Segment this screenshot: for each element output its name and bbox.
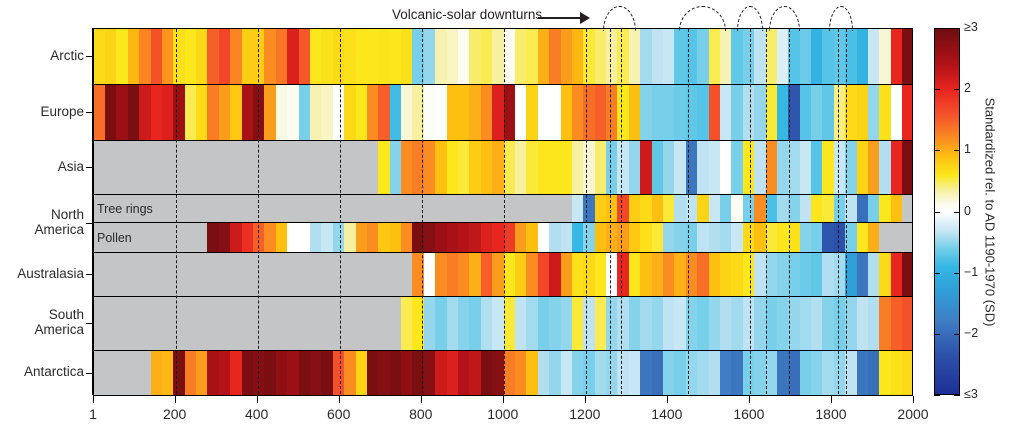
heatmap-cell <box>458 195 470 222</box>
heatmap-cell <box>902 29 912 84</box>
heatmap-cell <box>709 253 721 296</box>
row-label-europe: Europe <box>0 105 84 120</box>
heatmap-cell <box>549 85 561 140</box>
heatmap-cell <box>492 85 504 140</box>
heatmap-cell <box>412 223 424 252</box>
heatmap-cell <box>276 351 288 395</box>
y-axis-line <box>92 28 93 395</box>
heatmap-cell <box>902 351 912 395</box>
heatmap-cell <box>356 141 368 194</box>
heatmap-cell <box>811 29 823 84</box>
heatmap-cell <box>185 223 197 252</box>
heatmap-cell <box>378 351 390 395</box>
dashed-year-marker <box>766 29 767 394</box>
heatmap-cell <box>800 195 812 222</box>
volcanic-solar-downturns-label: Volcanic-solar downturns <box>392 7 542 22</box>
heatmap-cell <box>504 195 516 222</box>
heatmap-cell <box>549 141 561 194</box>
heatmap-cell <box>344 85 356 140</box>
colorbar-tick-mark <box>934 273 940 274</box>
heatmap-cell <box>185 141 197 194</box>
heatmap-cell <box>424 141 436 194</box>
heatmap-cell <box>572 351 584 395</box>
heatmap-cell <box>595 195 607 222</box>
heatmap-cell <box>492 297 504 350</box>
heatmap-cell <box>116 85 128 140</box>
heatmap-cell <box>606 351 618 395</box>
heatmap-cell <box>435 223 447 252</box>
heatmap-cell <box>526 253 538 296</box>
heatmap-cell <box>754 253 766 296</box>
heatmap-cell <box>834 141 846 194</box>
heatmap-cell <box>401 141 413 194</box>
heatmap-cell <box>595 85 607 140</box>
heatmap-cell <box>777 253 789 296</box>
heatmap-cell <box>720 253 732 296</box>
heatmap-cell <box>743 351 755 395</box>
row-tick-mark <box>86 274 93 275</box>
heatmap-cell <box>230 141 242 194</box>
heatmap-cell <box>401 223 413 252</box>
heatmap-cell <box>788 223 800 252</box>
heatmap-cell <box>390 195 402 222</box>
heatmap-cell <box>253 29 265 84</box>
heatmap-cell <box>663 253 675 296</box>
heatmap-cell <box>572 29 584 84</box>
heatmap-cell <box>492 141 504 194</box>
heatmap-cell <box>151 85 163 140</box>
heatmap-cell <box>720 141 732 194</box>
heatmap-cell <box>219 195 231 222</box>
heatmap-cell <box>276 29 288 84</box>
dashed-year-marker <box>340 29 341 394</box>
dashed-year-marker <box>688 29 689 394</box>
heatmap-cell <box>412 85 424 140</box>
heatmap-cell <box>515 351 527 395</box>
heatmap-cell <box>720 223 732 252</box>
heatmap-cell <box>116 253 128 296</box>
dashed-year-marker <box>846 29 847 394</box>
heatmap-cell <box>663 297 675 350</box>
heatmap-cell <box>344 29 356 84</box>
heatmap-cell <box>617 141 629 194</box>
heatmap-cell <box>310 223 322 252</box>
heatmap-cell <box>902 195 912 222</box>
row-tick-mark <box>86 323 93 324</box>
heatmap-cell <box>538 29 550 84</box>
heatmap-cell <box>207 141 219 194</box>
heatmap-cell <box>196 351 208 395</box>
heatmap-cell <box>219 351 231 395</box>
heatmap-cell <box>674 297 686 350</box>
heatmap-cell <box>822 85 834 140</box>
heatmap-cell <box>378 253 390 296</box>
heatmap-cell <box>515 223 527 252</box>
heatmap-cell <box>424 253 436 296</box>
heatmap-cell <box>754 297 766 350</box>
heatmap-cell <box>207 223 219 252</box>
heatmap-cell <box>561 223 573 252</box>
heatmap-cell <box>356 297 368 350</box>
volcanic-solar-downturn-marker <box>769 6 800 31</box>
heatmap-cell <box>777 223 789 252</box>
heatmap-cell <box>526 195 538 222</box>
heatmap-cell <box>435 29 447 84</box>
heatmap-cell <box>469 253 481 296</box>
heatmap-cell <box>424 195 436 222</box>
heatmap-cell <box>230 85 242 140</box>
heatmap-cell <box>481 223 493 252</box>
heatmap-cell <box>731 85 743 140</box>
heatmap-cell <box>287 253 299 296</box>
heatmap-cell <box>162 253 174 296</box>
heatmap-cell <box>891 351 903 395</box>
row-label-asia: Asia <box>0 160 84 175</box>
heatmap-cell <box>868 297 880 350</box>
heatmap-cell <box>219 223 231 252</box>
heatmap-cell <box>481 195 493 222</box>
dashed-year-marker <box>610 29 611 394</box>
heatmap-cell <box>822 351 834 395</box>
heatmap-cell <box>219 85 231 140</box>
heatmap-cell <box>264 141 276 194</box>
heatmap-cell <box>538 85 550 140</box>
heatmap-cell <box>447 223 459 252</box>
heatmap-cell <box>515 253 527 296</box>
heatmap-cell <box>652 223 664 252</box>
heatmap-cell <box>857 141 869 194</box>
heatmap-cell <box>606 141 618 194</box>
heatmap-cell <box>492 223 504 252</box>
heatmap-cell <box>321 195 333 222</box>
heatmap-cell <box>481 141 493 194</box>
heatmap-cell <box>356 85 368 140</box>
heatmap-cell <box>743 253 755 296</box>
heatmap-cell <box>629 141 641 194</box>
heatmap-cell <box>526 29 538 84</box>
heatmap-cell <box>105 29 117 84</box>
heatmap-cell <box>424 85 436 140</box>
heatmap-cell <box>834 195 846 222</box>
heatmap-cell <box>538 297 550 350</box>
heatmap-cell <box>264 29 276 84</box>
row-tick-mark <box>86 373 93 374</box>
heatmap-cell <box>344 253 356 296</box>
heatmap-cell <box>743 223 755 252</box>
heatmap-cell <box>868 85 880 140</box>
heatmap-cell <box>572 253 584 296</box>
heatmap-cell <box>344 297 356 350</box>
x-tick-label: 400 <box>227 406 287 422</box>
heatmap-cell <box>834 85 846 140</box>
heatmap-cell <box>697 253 709 296</box>
heatmap-cell <box>777 29 789 84</box>
heatmap-cell <box>458 141 470 194</box>
heatmap-cell <box>139 85 151 140</box>
heatmap-cell <box>822 253 834 296</box>
heatmap-cell <box>435 85 447 140</box>
heatmap-cell <box>287 85 299 140</box>
heatmap-cell <box>458 253 470 296</box>
heatmap-cell <box>253 253 265 296</box>
colorbar-tick-mark <box>954 334 960 335</box>
heatmap-cell <box>538 195 550 222</box>
heatmap-cell <box>891 195 903 222</box>
colorbar-tick-mark <box>934 89 940 90</box>
heatmap-cell <box>743 195 755 222</box>
heatmap-cell <box>230 29 242 84</box>
heatmap-cell <box>264 85 276 140</box>
heatmap-cell <box>617 195 629 222</box>
heatmap-cell <box>390 351 402 395</box>
heatmap-cell <box>458 351 470 395</box>
heatmap-cell <box>879 297 891 350</box>
row-label-arctic: Arctic <box>0 49 84 64</box>
heatmap-cell <box>561 297 573 350</box>
heatmap-cell <box>504 141 516 194</box>
heatmap-cell <box>606 253 618 296</box>
heatmap-cell <box>697 351 709 395</box>
heatmap-cell <box>287 141 299 194</box>
heatmap-cell <box>469 297 481 350</box>
heatmap-cell <box>891 85 903 140</box>
heatmap-cell <box>788 253 800 296</box>
heatmap-cell <box>561 29 573 84</box>
heatmap-cell <box>412 253 424 296</box>
heatmap-cell <box>834 297 846 350</box>
heatmap-cell <box>743 29 755 84</box>
heatmap-cell <box>139 141 151 194</box>
colorbar-tick-mark <box>934 150 940 151</box>
heatmap-cell <box>390 141 402 194</box>
heatmap-cell <box>754 141 766 194</box>
heatmap-cell <box>207 253 219 296</box>
heatmap-cell <box>766 29 778 84</box>
heatmap-cell <box>595 351 607 395</box>
heatmap-cell <box>481 29 493 84</box>
heatmap-cell <box>105 85 117 140</box>
heatmap-cell <box>868 223 880 252</box>
heatmap-cell <box>230 351 242 395</box>
heatmap-cell <box>469 141 481 194</box>
heatmap-cell <box>902 223 912 252</box>
heatmap-cell <box>162 297 174 350</box>
heatmap-cell <box>287 297 299 350</box>
heatmap-cell <box>310 29 322 84</box>
heatmap-cell <box>640 195 652 222</box>
heatmap-cell <box>356 253 368 296</box>
heatmap-plot-area: Tree ringsPollen <box>93 28 913 395</box>
x-tick-label: 1 <box>63 406 123 422</box>
heatmap-cell <box>766 195 778 222</box>
heatmap-cell <box>412 351 424 395</box>
heatmap-cell <box>151 253 163 296</box>
heatmap-cell <box>242 223 254 252</box>
heatmap-cell <box>800 85 812 140</box>
heatmap-cell <box>731 253 743 296</box>
heatmap-cell <box>435 141 447 194</box>
heatmap-cell <box>617 85 629 140</box>
heatmap-cell <box>276 297 288 350</box>
heatmap-cell <box>617 253 629 296</box>
heatmap-cell <box>321 297 333 350</box>
x-tick-mark <box>175 396 176 403</box>
heatmap-cell <box>766 85 778 140</box>
heatmap-cell <box>617 297 629 350</box>
row-tick-mark <box>86 167 93 168</box>
colorbar-tick-label: −2 <box>964 326 978 340</box>
heatmap-cell <box>857 297 869 350</box>
colorbar-tick-label: 2 <box>964 81 971 95</box>
heatmap-cell <box>481 297 493 350</box>
heatmap-cell <box>561 85 573 140</box>
heatmap-cell <box>162 29 174 84</box>
heatmap-cell <box>811 85 823 140</box>
heatmap-cell <box>561 141 573 194</box>
heatmap-cell <box>185 297 197 350</box>
heatmap-cell <box>754 351 766 395</box>
colorbar-tick-mark <box>934 334 940 335</box>
heatmap-cell <box>356 195 368 222</box>
heatmap-cell <box>595 141 607 194</box>
colorbar-tick-mark <box>954 395 960 396</box>
heatmap-cell <box>868 29 880 84</box>
colorbar-tick-label: ≤3 <box>964 387 978 401</box>
heatmap-cell <box>879 195 891 222</box>
row-tick-mark <box>86 223 93 224</box>
heatmap-cell <box>139 253 151 296</box>
heatmap-cell <box>811 195 823 222</box>
heatmap-cell <box>287 29 299 84</box>
heatmap-cell <box>310 297 322 350</box>
heatmap-cell <box>857 253 869 296</box>
heatmap-cell <box>276 253 288 296</box>
heatmap-cell <box>344 223 356 252</box>
heatmap-cell <box>321 29 333 84</box>
heatmap-cell <box>674 85 686 140</box>
colorbar-tick-mark <box>954 89 960 90</box>
heatmap-cell <box>811 253 823 296</box>
heatmap-cell <box>629 223 641 252</box>
heatmap-cell <box>162 85 174 140</box>
heatmap-cell <box>310 351 322 395</box>
heatmap-cell <box>822 297 834 350</box>
heatmap-cell <box>561 253 573 296</box>
heatmap-cell <box>617 29 629 84</box>
heatmap-cell <box>652 195 664 222</box>
heatmap-cell <box>891 29 903 84</box>
dashed-year-marker <box>586 29 587 394</box>
colorbar-tick-label: 1 <box>964 142 971 156</box>
x-tick-mark <box>831 396 832 403</box>
x-tick-mark <box>421 396 422 403</box>
heatmap-cell <box>367 195 379 222</box>
heatmap-cell <box>219 297 231 350</box>
heatmap-cell <box>390 223 402 252</box>
heatmap-cell <box>709 29 721 84</box>
heatmap-cell <box>606 297 618 350</box>
heatmap-cell <box>697 85 709 140</box>
heatmap-cell <box>697 297 709 350</box>
heatmap-cell <box>492 195 504 222</box>
heatmap-cell <box>401 85 413 140</box>
colorbar-tick-mark <box>954 28 960 29</box>
heatmap-cell <box>697 141 709 194</box>
heatmap-cell <box>504 29 516 84</box>
heatmap-cell <box>549 195 561 222</box>
heatmap-cell <box>902 297 912 350</box>
heatmap-cell <box>105 297 117 350</box>
heatmap-cell <box>128 351 140 395</box>
heatmap-cell <box>709 297 721 350</box>
heatmap-cell <box>800 223 812 252</box>
heatmap-cell <box>299 223 311 252</box>
heatmap-cell <box>435 195 447 222</box>
heatmap-cell <box>595 223 607 252</box>
heatmap-cell <box>788 85 800 140</box>
heatmap-cell <box>777 297 789 350</box>
heatmap-cell <box>264 297 276 350</box>
heatmap-cell <box>709 141 721 194</box>
heatmap-cell <box>253 141 265 194</box>
heatmap-cell <box>709 223 721 252</box>
x-tick-label: 1600 <box>719 406 779 422</box>
x-tick-label: 600 <box>309 406 369 422</box>
heatmap-cell <box>720 85 732 140</box>
heatmap-cell <box>606 195 618 222</box>
heatmap-cell <box>549 351 561 395</box>
heatmap-cell <box>572 85 584 140</box>
heatmap-cell <box>378 85 390 140</box>
row-label-north-america: North America <box>0 208 84 237</box>
heatmap-cell <box>595 297 607 350</box>
x-tick-mark <box>93 396 94 403</box>
heatmap-cell <box>458 223 470 252</box>
dashed-year-marker <box>422 29 423 394</box>
heatmap-cell <box>321 223 333 252</box>
heatmap-cell <box>412 297 424 350</box>
heatmap-cell <box>857 351 869 395</box>
heatmap-cell <box>595 29 607 84</box>
heatmap-cell <box>674 195 686 222</box>
heatmap-cell <box>469 85 481 140</box>
heatmap-cell <box>709 195 721 222</box>
heatmap-cell <box>367 141 379 194</box>
heatmap-cell <box>731 141 743 194</box>
heatmap-cell <box>720 29 732 84</box>
heatmap-cell <box>800 351 812 395</box>
heatmap-cell <box>401 351 413 395</box>
heatmap-cell <box>219 141 231 194</box>
colorbar-tick-mark <box>934 212 940 213</box>
heatmap-cell <box>116 297 128 350</box>
heatmap-cell <box>891 141 903 194</box>
heatmap-cell <box>561 351 573 395</box>
heatmap-cell <box>447 351 459 395</box>
volcanic-solar-downturn-marker <box>737 6 764 31</box>
heatmap-cell <box>868 253 880 296</box>
heatmap-cell <box>652 85 664 140</box>
heatmap-cell <box>617 223 629 252</box>
heatmap-cell <box>139 223 151 252</box>
heatmap-cell <box>492 29 504 84</box>
heatmap-cell <box>299 351 311 395</box>
heatmap-cell <box>196 297 208 350</box>
heatmap-cell <box>299 85 311 140</box>
heatmap-cell <box>458 297 470 350</box>
heatmap-cell <box>412 29 424 84</box>
row-label-south-america: South America <box>0 308 84 337</box>
